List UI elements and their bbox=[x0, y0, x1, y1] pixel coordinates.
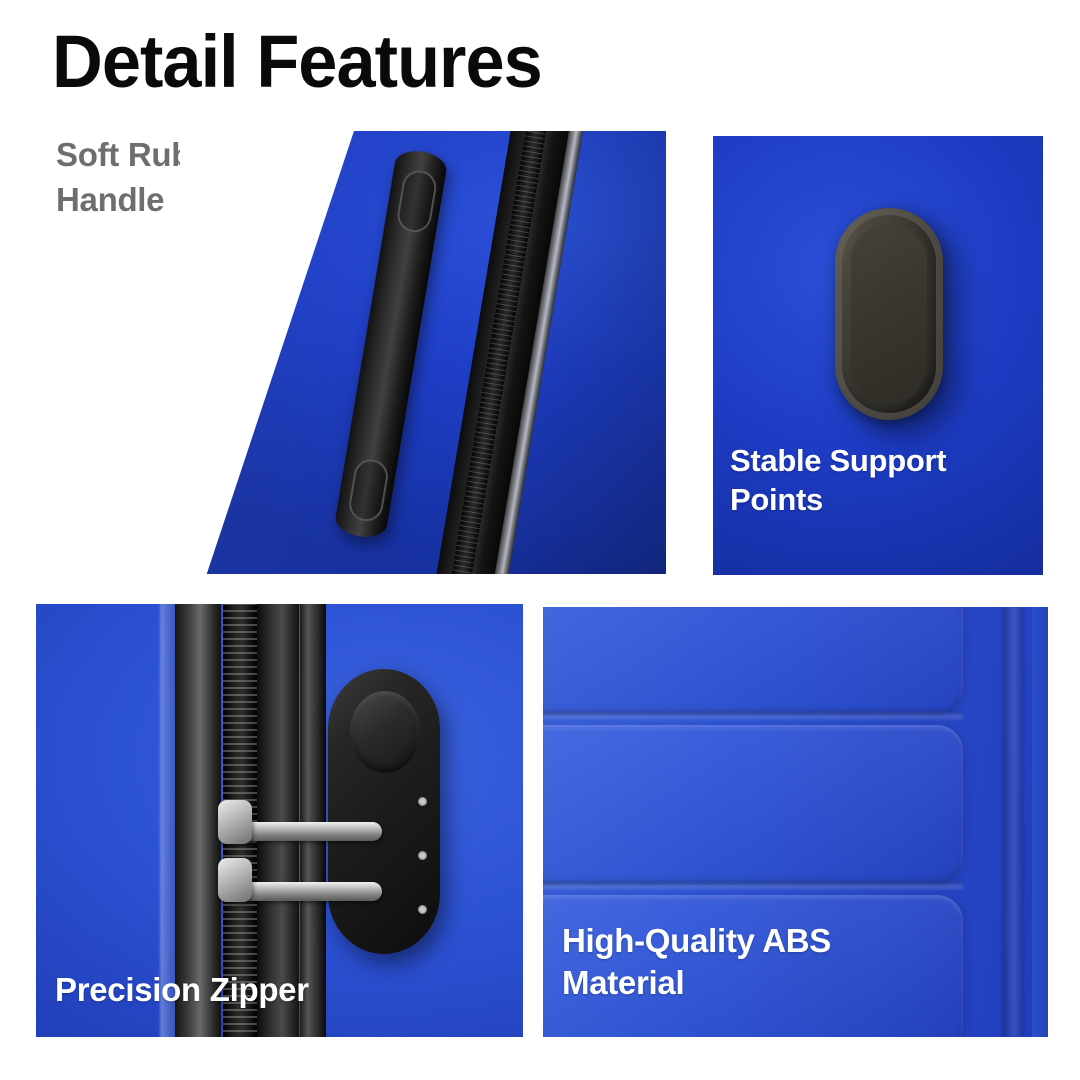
zipper-chrome-edge bbox=[484, 131, 594, 574]
zipper-slider-lower bbox=[218, 858, 252, 902]
lock-screw-top bbox=[418, 797, 427, 806]
zipper-pull-upper bbox=[232, 822, 382, 841]
lock-screw-middle bbox=[418, 851, 427, 860]
zipper-slider-upper bbox=[218, 800, 252, 844]
suitcase-shell-blue bbox=[180, 131, 666, 574]
abs-shell-edge bbox=[1002, 607, 1024, 1037]
caption-stable-support-points: Stable Support Points bbox=[730, 441, 1040, 519]
abs-seam-2 bbox=[543, 881, 963, 891]
abs-seam-1 bbox=[543, 711, 963, 721]
abs-groove-2 bbox=[543, 725, 963, 885]
lock-screw-bottom bbox=[418, 905, 427, 914]
lock-dial bbox=[350, 691, 420, 773]
handle-slot-top bbox=[395, 168, 438, 235]
support-point-foot bbox=[835, 208, 943, 420]
zipper-pull-lower bbox=[232, 882, 382, 901]
caption-precision-zipper: Precision Zipper bbox=[55, 970, 309, 1010]
caption-abs-material: High-Quality ABS Material bbox=[562, 920, 962, 1004]
panel-soft-rubber-handle bbox=[180, 131, 666, 574]
zipper-trim-band bbox=[426, 131, 582, 574]
abs-shell-side bbox=[1032, 607, 1048, 1037]
page-title: Detail Features bbox=[52, 22, 542, 102]
rubber-handle-strap bbox=[333, 147, 449, 540]
abs-groove-1 bbox=[543, 607, 963, 715]
tsa-lock-body bbox=[328, 669, 440, 954]
handle-slot-bottom bbox=[347, 457, 390, 524]
detail-features-board: Detail Features Soft Rubber Handle Stabl… bbox=[0, 0, 1080, 1080]
zipper-teeth bbox=[440, 131, 556, 574]
